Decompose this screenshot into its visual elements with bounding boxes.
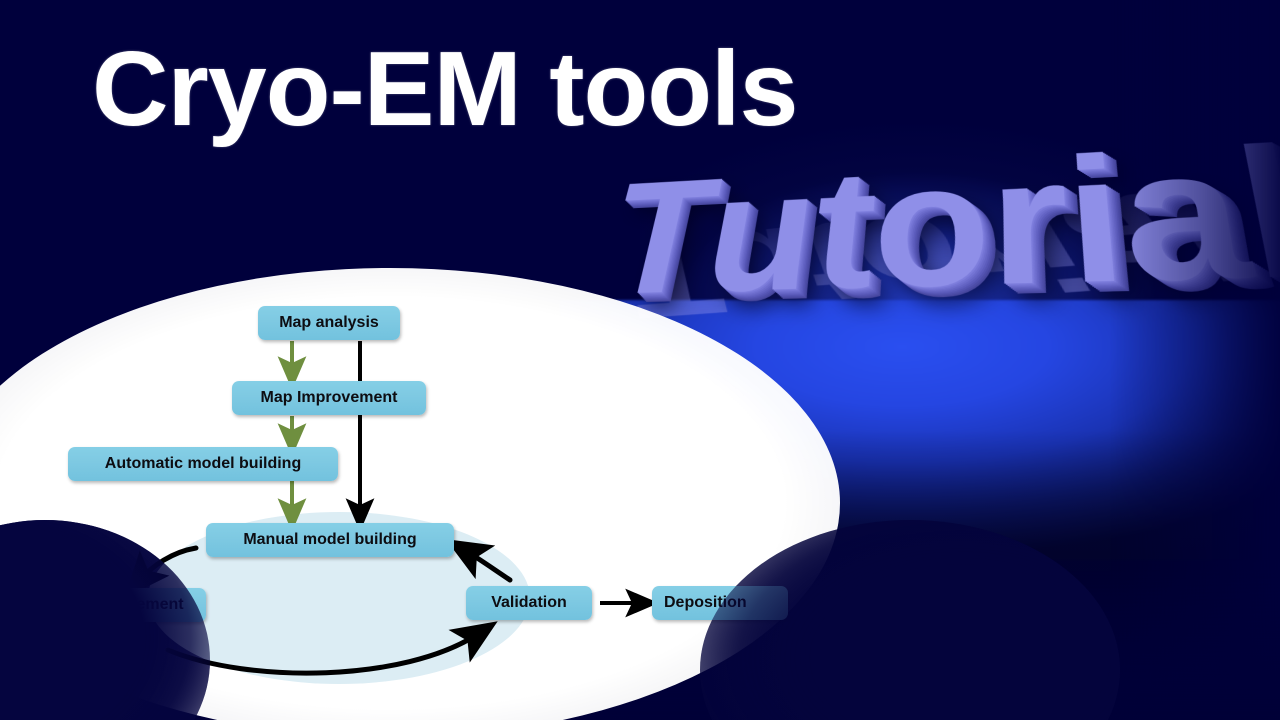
node-automatic-model-building[interactable]: Automatic model building (68, 447, 338, 481)
node-manual-model-building[interactable]: Manual model building (206, 523, 454, 557)
node-validation[interactable]: Validation (466, 586, 592, 620)
slide-canvas: Tutorial Tutorial Cryo-EM tools (0, 0, 1280, 720)
node-map-analysis[interactable]: Map analysis (258, 306, 400, 340)
node-map-improvement[interactable]: Map Improvement (232, 381, 426, 415)
